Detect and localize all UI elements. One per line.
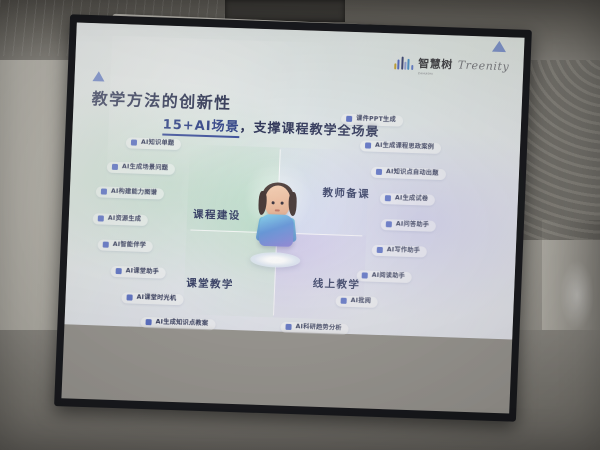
star-icon	[116, 268, 122, 274]
read-icon	[362, 273, 368, 279]
quadrant-label-course-construction: 课程建设	[193, 207, 241, 224]
avatar-head	[264, 185, 291, 218]
clock-icon	[126, 295, 132, 301]
slide-title: 教学方法的创新性	[91, 85, 232, 114]
list-item-label: AI课堂助手	[126, 269, 160, 276]
list-item[interactable]: AI阅读助手	[356, 270, 412, 283]
list-item[interactable]: AI生成场景问题	[107, 162, 176, 176]
brand-logo: 智慧树 ZHIHUISHU Treenity	[394, 51, 510, 78]
list-item-label: AI智能伴学	[113, 242, 147, 249]
quadrant-label-teacher-prep: 教师备课	[322, 185, 370, 202]
people-icon	[103, 242, 109, 248]
screen-unused-area	[61, 324, 512, 413]
list-item[interactable]: AI课堂时光机	[121, 292, 183, 305]
avatar-hair-left	[258, 191, 267, 215]
quadrant-label-online-teaching: 线上教学	[312, 276, 360, 293]
pillar-highlight	[560, 260, 594, 330]
brand-name-cn-wrap: 智慧树 ZHIHUISHU	[418, 52, 453, 76]
avatar-eye-left	[272, 201, 275, 204]
list-item-label: AI资源生成	[108, 216, 142, 223]
chart-icon	[285, 324, 291, 330]
projection-screen: 智慧树 ZHIHUISHU Treenity 教学方法的创新性 15+AI场景，…	[54, 14, 532, 421]
list-item-label: AI问答助手	[396, 222, 430, 229]
question-icon	[376, 169, 382, 175]
bar-chart-logo-icon	[394, 56, 413, 70]
book-icon	[98, 216, 104, 222]
list-item[interactable]: AI课堂助手	[110, 266, 166, 279]
triangle-decoration-icon	[492, 41, 506, 52]
list-item-label: AI构建能力图谱	[111, 189, 157, 197]
list-item[interactable]: AI知识单题	[126, 137, 182, 150]
brand-name-cn: 智慧树	[418, 57, 453, 71]
pencil-icon	[377, 247, 383, 253]
avatar-eye-right	[281, 202, 284, 205]
chat-icon	[386, 222, 392, 228]
pen-icon	[145, 320, 151, 326]
radial-quadrant-diagram: 课程建设 教师备课 课堂教学 线上教学	[183, 144, 370, 320]
list-item-label: AI知识单题	[141, 140, 175, 147]
list-item-label: 课件PPT生成	[356, 116, 396, 124]
presentation-slide: 智慧树 ZHIHUISHU Treenity 教学方法的创新性 15+AI场景，…	[64, 23, 524, 340]
title-triangle-icon	[92, 71, 104, 81]
grid-icon	[112, 164, 118, 170]
brand-name-cn-sub: ZHIHUISHU	[418, 72, 453, 76]
list-item-label: AI科研趋势分析	[295, 325, 341, 333]
check-icon	[341, 298, 347, 304]
screen-surface: 智慧树 ZHIHUISHU Treenity 教学方法的创新性 15+AI场景，…	[61, 23, 524, 414]
list-item[interactable]: AI知识点自动出题	[371, 167, 446, 181]
avatar-mouth	[275, 209, 280, 211]
list-item-label: AI生成场景问题	[122, 165, 168, 173]
doc-icon	[131, 140, 137, 146]
list-item[interactable]: AI问答助手	[381, 219, 437, 232]
list-item[interactable]: AI智能伴学	[97, 239, 153, 252]
ai-avatar	[257, 185, 296, 262]
subtitle-highlight: 15+AI场景	[162, 118, 240, 139]
list-item-label: AI生成试卷	[395, 196, 429, 203]
list-item-label: AI写作助手	[387, 248, 421, 255]
brand-name-en: Treenity	[457, 59, 509, 74]
list-item[interactable]: AI构建能力图谱	[96, 186, 165, 200]
node-icon	[101, 189, 107, 195]
list-item-label: AI生成知识点教案	[155, 320, 208, 328]
list-item[interactable]: AI写作助手	[372, 245, 428, 258]
list-item-label: AI生成课程思政案例	[375, 143, 434, 151]
slide-icon	[346, 116, 352, 122]
flag-icon	[365, 143, 371, 149]
list-item-label: AI课堂时光机	[136, 295, 176, 303]
quadrant-label-classroom-teaching: 课堂教学	[186, 275, 234, 292]
list-item[interactable]: AI资源生成	[93, 213, 149, 226]
list-item[interactable]: AI批阅	[335, 296, 378, 309]
list-item-label: AI阅读助手	[372, 273, 406, 280]
paper-icon	[385, 196, 391, 202]
list-item[interactable]: AI生成试卷	[380, 193, 436, 206]
list-item-label: AI批阅	[350, 298, 371, 305]
list-item[interactable]: AI生成课程思政案例	[360, 140, 442, 154]
list-item-label: AI知识点自动出题	[386, 170, 439, 178]
classroom-photo-scene: 智慧树 ZHIHUISHU Treenity 教学方法的创新性 15+AI场景，…	[0, 0, 600, 450]
avatar-body	[259, 214, 294, 247]
